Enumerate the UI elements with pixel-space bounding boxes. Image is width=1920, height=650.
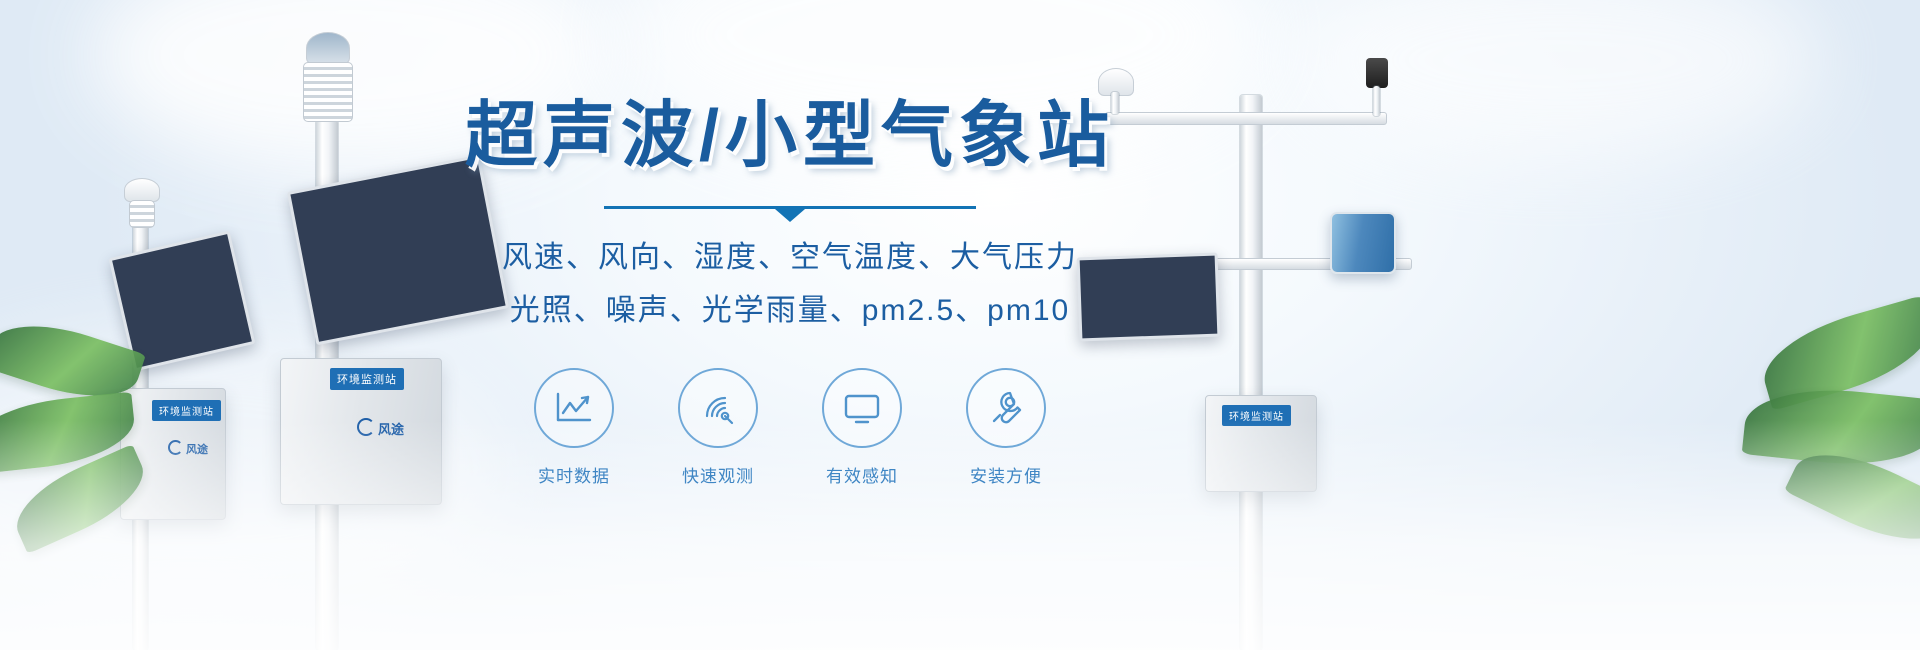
feature-item-realtime-data[interactable]: 实时数据 (531, 368, 617, 487)
wind-sensor-head (124, 178, 160, 202)
cross-arm (1105, 112, 1387, 125)
line-chart-icon (554, 391, 594, 425)
sensor-stem (1373, 86, 1380, 116)
feature-label: 快速观测 (675, 462, 761, 487)
feature-icon-circle (822, 368, 902, 448)
camera-sensor (1366, 58, 1388, 88)
feature-item-fast-observation[interactable]: 快速观测 (675, 368, 761, 487)
feature-icon-circle (678, 368, 758, 448)
feature-label: 安装方便 (963, 462, 1049, 487)
wrench-tool-icon (986, 389, 1026, 427)
feature-label: 实时数据 (531, 462, 617, 487)
page-title: 超声波/小型气象站 (440, 100, 1140, 172)
feature-label: 有效感知 (819, 462, 905, 487)
cabinet-label: 环境监测站 (152, 400, 221, 421)
subtitle-line-2: 光照、噪声、光学雨量、pm2.5、pm10 (440, 288, 1140, 335)
radiation-shield (303, 62, 353, 122)
cabinet-label: 环境监测站 (330, 368, 404, 390)
feature-item-effective-sensing[interactable]: 有效感知 (819, 368, 905, 487)
radiation-shield (129, 200, 155, 228)
feature-icon-circle (534, 368, 614, 448)
radar-signal-icon (698, 389, 738, 427)
feature-list: 实时数据 快速观测 (440, 368, 1140, 487)
ultrasonic-wind-sensor (306, 32, 350, 64)
title-divider (604, 206, 976, 209)
feature-item-easy-installation[interactable]: 安装方便 (963, 368, 1049, 487)
banner-content: 超声波/小型气象站 风速、风向、湿度、空气温度、大气压力 光照、噪声、光学雨量、… (440, 100, 1140, 487)
subtitle-line-1: 风速、风向、湿度、空气温度、大气压力 (440, 235, 1140, 282)
product-banner: 环境监测站 风途 环境监测站 风途 环境监测站 超声波/小型气象站 风速、风 (0, 0, 1920, 650)
monitor-screen-icon (842, 391, 882, 425)
feature-icon-circle (966, 368, 1046, 448)
rain-gauge (1330, 212, 1396, 274)
